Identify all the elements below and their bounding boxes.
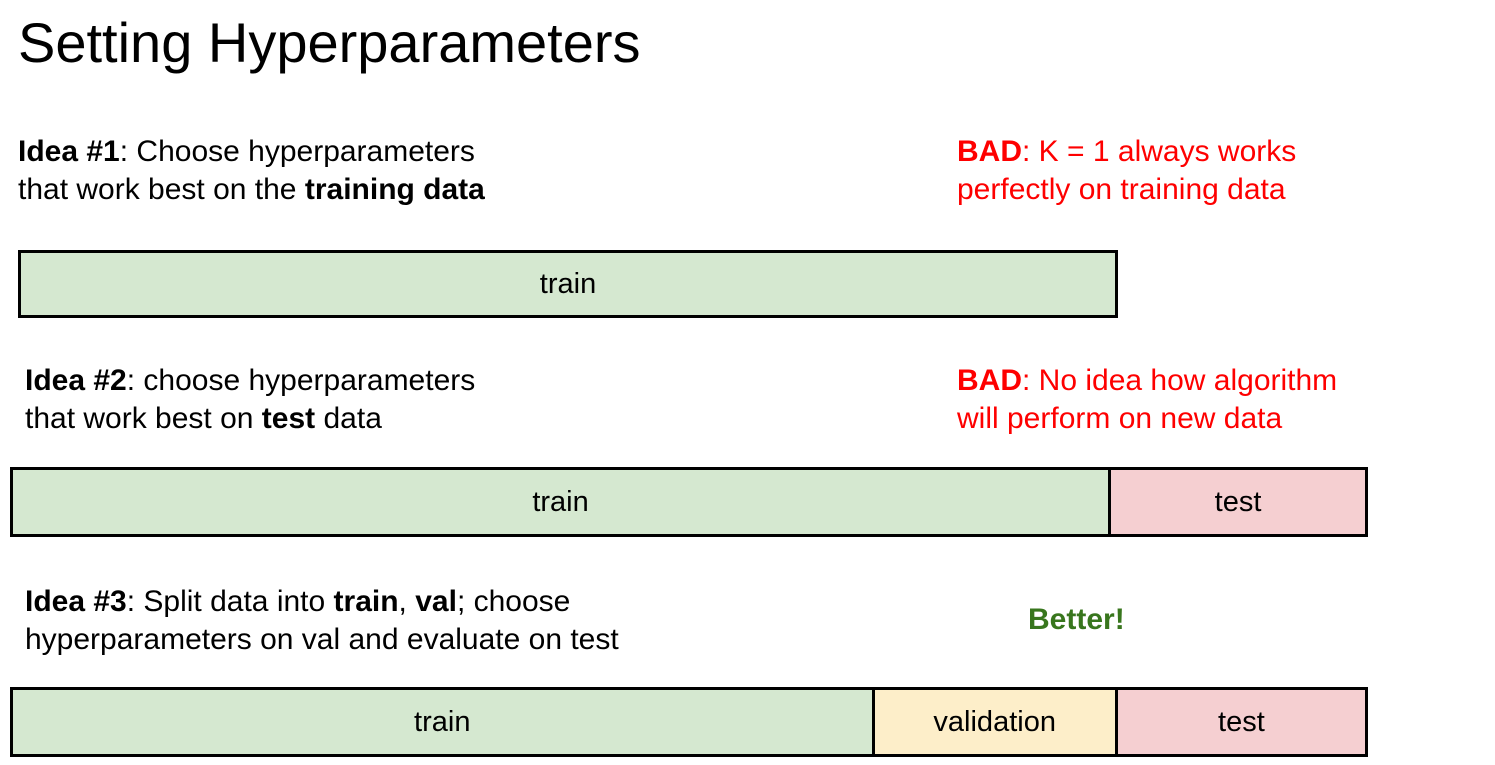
idea-1-verdict-line-1: BAD: K = 1 always works: [957, 133, 1296, 171]
idea-2-line-2-pre: that work best on: [25, 402, 262, 435]
segment-train: train: [13, 690, 872, 754]
segment-test: test: [1115, 690, 1365, 754]
idea-3-line-1-mid: ,: [399, 585, 416, 618]
idea-3-line-2: hyperparameters on val and evaluate on t…: [25, 621, 619, 659]
idea-2-data-split-bar: train test: [10, 467, 1368, 537]
segment-train: train: [13, 470, 1108, 534]
idea-2-verdict-label: BAD: [957, 364, 1022, 397]
idea-2-label: Idea #2: [25, 364, 127, 397]
segment-train: train: [21, 253, 1115, 315]
idea-3-line-1: Idea #3: Split data into train, val; cho…: [25, 583, 619, 621]
idea-3-separator: :: [127, 585, 144, 618]
idea-3-emphasis-train: train: [334, 585, 399, 618]
idea-2-verdict-separator: :: [1022, 364, 1039, 397]
idea-1-verdict-line-1-text: K = 1 always works: [1039, 135, 1297, 168]
idea-2-verdict: BAD: No idea how algorithm will perform …: [957, 362, 1337, 438]
idea-1-label: Idea #1: [18, 135, 120, 168]
idea-1-verdict: BAD: K = 1 always works perfectly on tra…: [957, 133, 1296, 209]
idea-3-label: Idea #3: [25, 585, 127, 618]
idea-2-verdict-line-1: BAD: No idea how algorithm: [957, 362, 1337, 400]
idea-3-description: Idea #3: Split data into train, val; cho…: [25, 583, 619, 659]
idea-2-line-1-text: choose hyperparameters: [143, 364, 475, 397]
idea-1-line-1-text: Choose hyperparameters: [136, 135, 475, 168]
idea-1-description: Idea #1: Choose hyperparameters that wor…: [18, 133, 485, 209]
idea-2-line-2-post: data: [315, 402, 382, 435]
idea-1-separator: :: [120, 135, 137, 168]
idea-3-data-split-bar: train validation test: [10, 687, 1368, 757]
segment-validation: validation: [872, 690, 1115, 754]
idea-1-line-2: that work best on the training data: [18, 171, 485, 209]
idea-1-line-1: Idea #1: Choose hyperparameters: [18, 133, 485, 171]
idea-3-emphasis-val: val: [415, 585, 457, 618]
page-title: Setting Hyperparameters: [18, 12, 641, 74]
idea-1-data-split-bar: train: [18, 250, 1118, 318]
idea-1-verdict-label: BAD: [957, 135, 1022, 168]
idea-2-description: Idea #2: choose hyperparameters that wor…: [25, 362, 475, 438]
idea-3-verdict: Better!: [1028, 601, 1125, 639]
idea-2-verdict-line-2: will perform on new data: [957, 400, 1337, 438]
segment-test: test: [1108, 470, 1365, 534]
idea-1-line-2-emphasis: training data: [305, 173, 485, 206]
idea-1-verdict-separator: :: [1022, 135, 1039, 168]
idea-2-verdict-line-1-text: No idea how algorithm: [1039, 364, 1338, 397]
idea-1-verdict-line-2: perfectly on training data: [957, 171, 1296, 209]
idea-1-line-2-pre: that work best on the: [18, 173, 305, 206]
idea-2-line-2: that work best on test data: [25, 400, 475, 438]
idea-3-line-1-pre: Split data into: [143, 585, 333, 618]
idea-2-line-2-emphasis: test: [262, 402, 315, 435]
idea-2-line-1: Idea #2: choose hyperparameters: [25, 362, 475, 400]
idea-3-line-1-post: ; choose: [457, 585, 570, 618]
slide-canvas: Setting Hyperparameters Idea #1: Choose …: [0, 0, 1495, 765]
idea-2-separator: :: [127, 364, 144, 397]
